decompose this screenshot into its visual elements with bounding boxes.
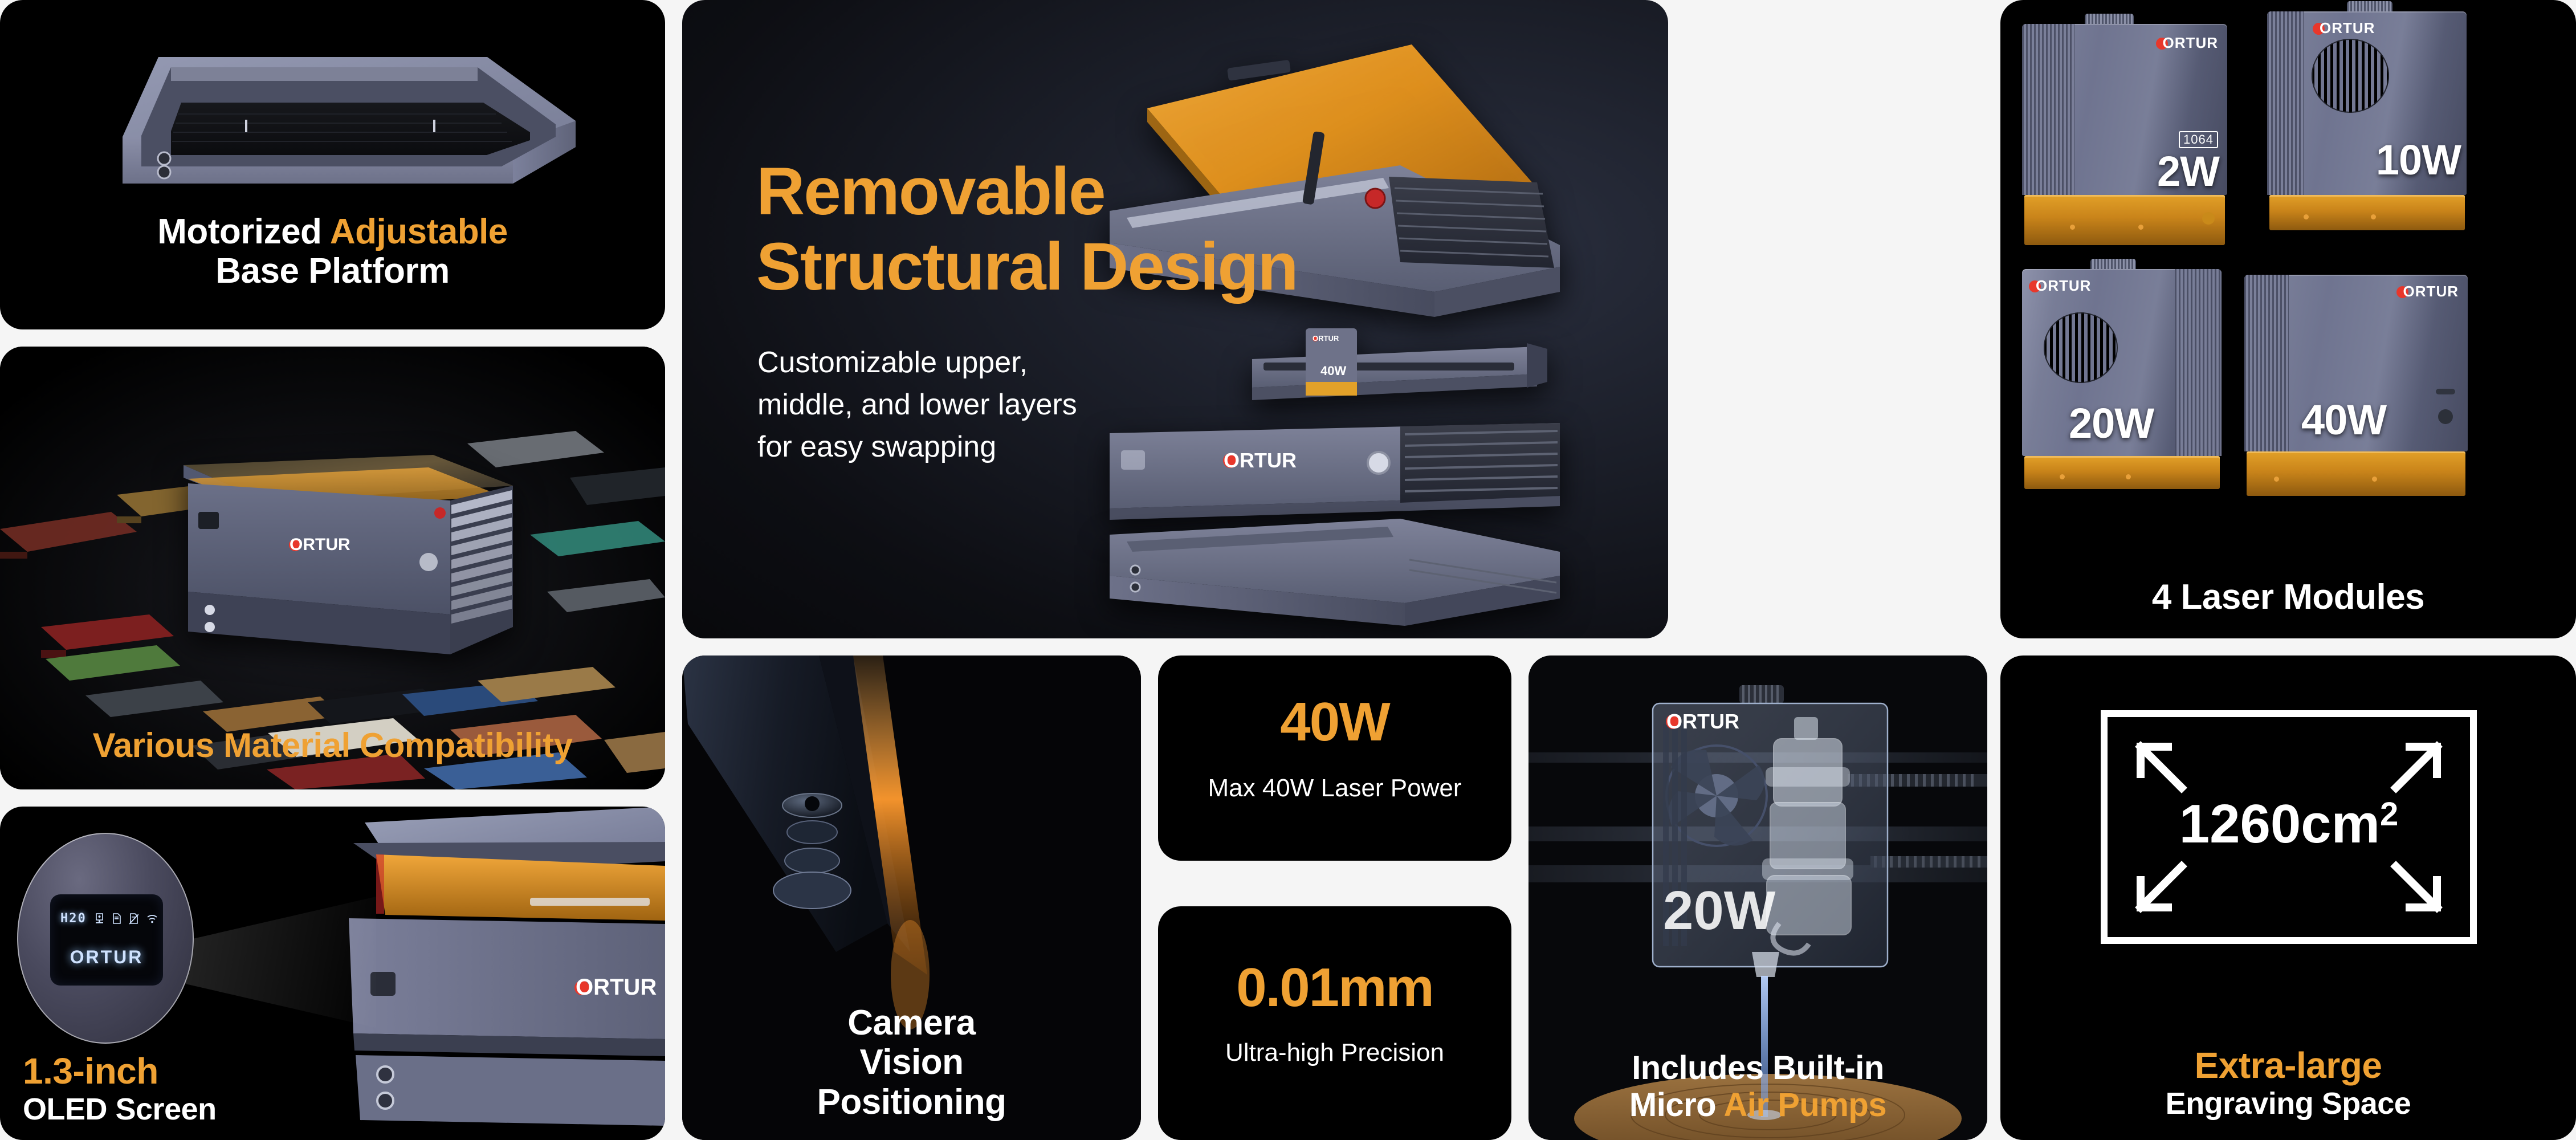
caption-part-motorized: Motorized	[157, 212, 330, 251]
air-pump-module-label: 20W	[1663, 880, 1776, 941]
engraving-area-superscript: 2	[2380, 796, 2398, 833]
panel-material-compatibility-caption: Various Material Compatibility	[0, 726, 665, 764]
module-power-label: 40W	[2301, 396, 2386, 444]
module-logo: ORTUR	[2029, 277, 2091, 295]
caption-line-vision: Vision	[682, 1043, 1141, 1082]
base-platform-illustration	[0, 23, 665, 211]
sd-card-disabled-icon	[129, 913, 138, 925]
engraving-area-value: 1260cm2	[2179, 793, 2399, 854]
module-heatsink-fins	[2244, 275, 2289, 451]
module-logo: ORTUR	[2396, 283, 2459, 300]
panel-motorized-base-caption: Motorized Adjustable Base Platform	[0, 212, 665, 291]
module-heatsink-fins	[2175, 269, 2222, 456]
materials-illustration: ORTUR	[0, 347, 665, 789]
caption-line-base-platform: Base Platform	[0, 251, 665, 291]
caption-line-includes: Includes Built-in	[1529, 1050, 1987, 1087]
laser-module-20w: ORTUR 20W	[2022, 269, 2222, 497]
hero-subtitle: Customizable upper, middle, and lower la…	[757, 342, 1077, 468]
wifi-icon	[146, 914, 158, 924]
hero-module-label: 40W	[1320, 364, 1346, 378]
module-power-label: 20W	[2069, 399, 2154, 447]
caption-line-engraving-space: Engraving Space	[2000, 1086, 2576, 1121]
panel-laser-power: 40W Max 40W Laser Power	[1158, 655, 1511, 861]
svg-text:ORTUR: ORTUR	[290, 535, 350, 554]
panel-air-pumps: 20W ORTUR Includes Built-in Micro Air Pu…	[1529, 655, 1987, 1140]
svg-text:ORTUR: ORTUR	[1313, 334, 1339, 343]
exploded-product-illustration: 40W ORTUR ORTUR	[1036, 0, 1668, 638]
precision-value: 0.01mm	[1158, 956, 1511, 1019]
panel-precision: 0.01mm Ultra-high Precision	[1158, 906, 1511, 1140]
oled-status-row: H20	[60, 911, 158, 926]
module-fan-grille-icon	[2044, 312, 2118, 383]
module-fan-grille-icon	[2312, 39, 2389, 113]
module-heatsink-fins	[2267, 11, 2304, 195]
panel-oled-caption: 1.3-inch OLED Screen	[23, 1051, 217, 1126]
caption-line-inch: 1.3-inch	[23, 1051, 217, 1092]
caption-line-oled: OLED Screen	[23, 1092, 217, 1126]
panel-laser-modules: ORTUR 1064 2W ORTUR 10W	[2000, 0, 2576, 638]
panel-engraving-space-caption: Extra-large Engraving Space	[2000, 1045, 2576, 1121]
svg-text:ORTUR: ORTUR	[1666, 710, 1739, 733]
pc-monitor-icon	[95, 913, 104, 925]
module-vent-slot	[2436, 389, 2455, 394]
laser-module-40w: ORTUR 40W	[2244, 275, 2468, 498]
hero-subtitle-line1: Customizable upper,	[757, 342, 1077, 384]
caption-line-positioning: Positioning	[682, 1082, 1141, 1122]
module-logo: ORTUR	[2156, 34, 2218, 52]
caption-part-adjustable: Adjustable	[330, 212, 508, 251]
caption-line-camera: Camera	[682, 1003, 1141, 1043]
power-value: 40W	[1158, 691, 1511, 754]
module-lens-cover	[2269, 195, 2465, 230]
panel-air-pumps-caption: Includes Built-in Micro Air Pumps	[1529, 1050, 1987, 1124]
hero-subtitle-line3: for easy swapping	[757, 426, 1077, 469]
module-logo: ORTUR	[2313, 19, 2375, 37]
caption-part-micro: Micro	[1629, 1086, 1724, 1123]
sd-card-icon	[112, 913, 121, 925]
engraving-area-number: 1260cm	[2179, 793, 2380, 854]
oled-status-text: H20	[60, 911, 87, 926]
panel-camera-caption: Camera Vision Positioning	[682, 1003, 1141, 1122]
oled-brand-logo: ORTUR	[50, 947, 163, 968]
module-lens-cover	[2024, 195, 2226, 245]
svg-text:ORTUR: ORTUR	[1224, 449, 1297, 472]
hero-title: Removable Structural Design	[756, 154, 1298, 304]
engraving-area-icon: 1260cm2	[2101, 710, 2477, 944]
module-power-label: 2W	[2157, 147, 2219, 196]
svg-text:ORTUR: ORTUR	[576, 975, 657, 1000]
caption-part-air-pumps: Air Pumps	[1724, 1086, 1887, 1123]
panel-material-compatibility: ORTUR	[0, 347, 665, 789]
power-description: Max 40W Laser Power	[1158, 774, 1511, 803]
laser-module-10w: ORTUR 10W	[2267, 11, 2467, 239]
panel-engraving-space: 1260cm2 Extra-large Engraving Space	[2000, 655, 2576, 1140]
precision-description: Ultra-high Precision	[1158, 1039, 1511, 1067]
panel-hero-structural-design: 40W ORTUR ORTUR	[682, 0, 1668, 638]
module-wavelength-badge: 1064	[2179, 131, 2218, 148]
laser-module-2w: ORTUR 1064 2W	[2022, 24, 2227, 246]
module-lens-cover	[2024, 456, 2220, 489]
module-power-label: 10W	[2376, 136, 2461, 184]
panel-laser-modules-caption: 4 Laser Modules	[2000, 577, 2576, 617]
panel-oled-screen: ORTUR H20	[0, 807, 665, 1140]
oled-display: H20	[50, 894, 163, 986]
caption-line-extra-large: Extra-large	[2000, 1045, 2576, 1086]
hero-title-line1: Removable	[756, 154, 1298, 229]
module-lens-cover	[2247, 451, 2465, 496]
panel-motorized-base: Motorized Adjustable Base Platform	[0, 0, 665, 329]
hero-title-line2: Structural Design	[756, 229, 1298, 304]
module-button-icon	[2438, 409, 2453, 424]
feature-grid: Motorized Adjustable Base Platform	[0, 0, 2576, 1140]
oled-magnifier: H20	[17, 833, 194, 1044]
panel-camera-vision: Camera Vision Positioning	[682, 655, 1141, 1140]
module-heatsink-fins	[2022, 24, 2074, 195]
hero-subtitle-line2: middle, and lower layers	[757, 384, 1077, 426]
